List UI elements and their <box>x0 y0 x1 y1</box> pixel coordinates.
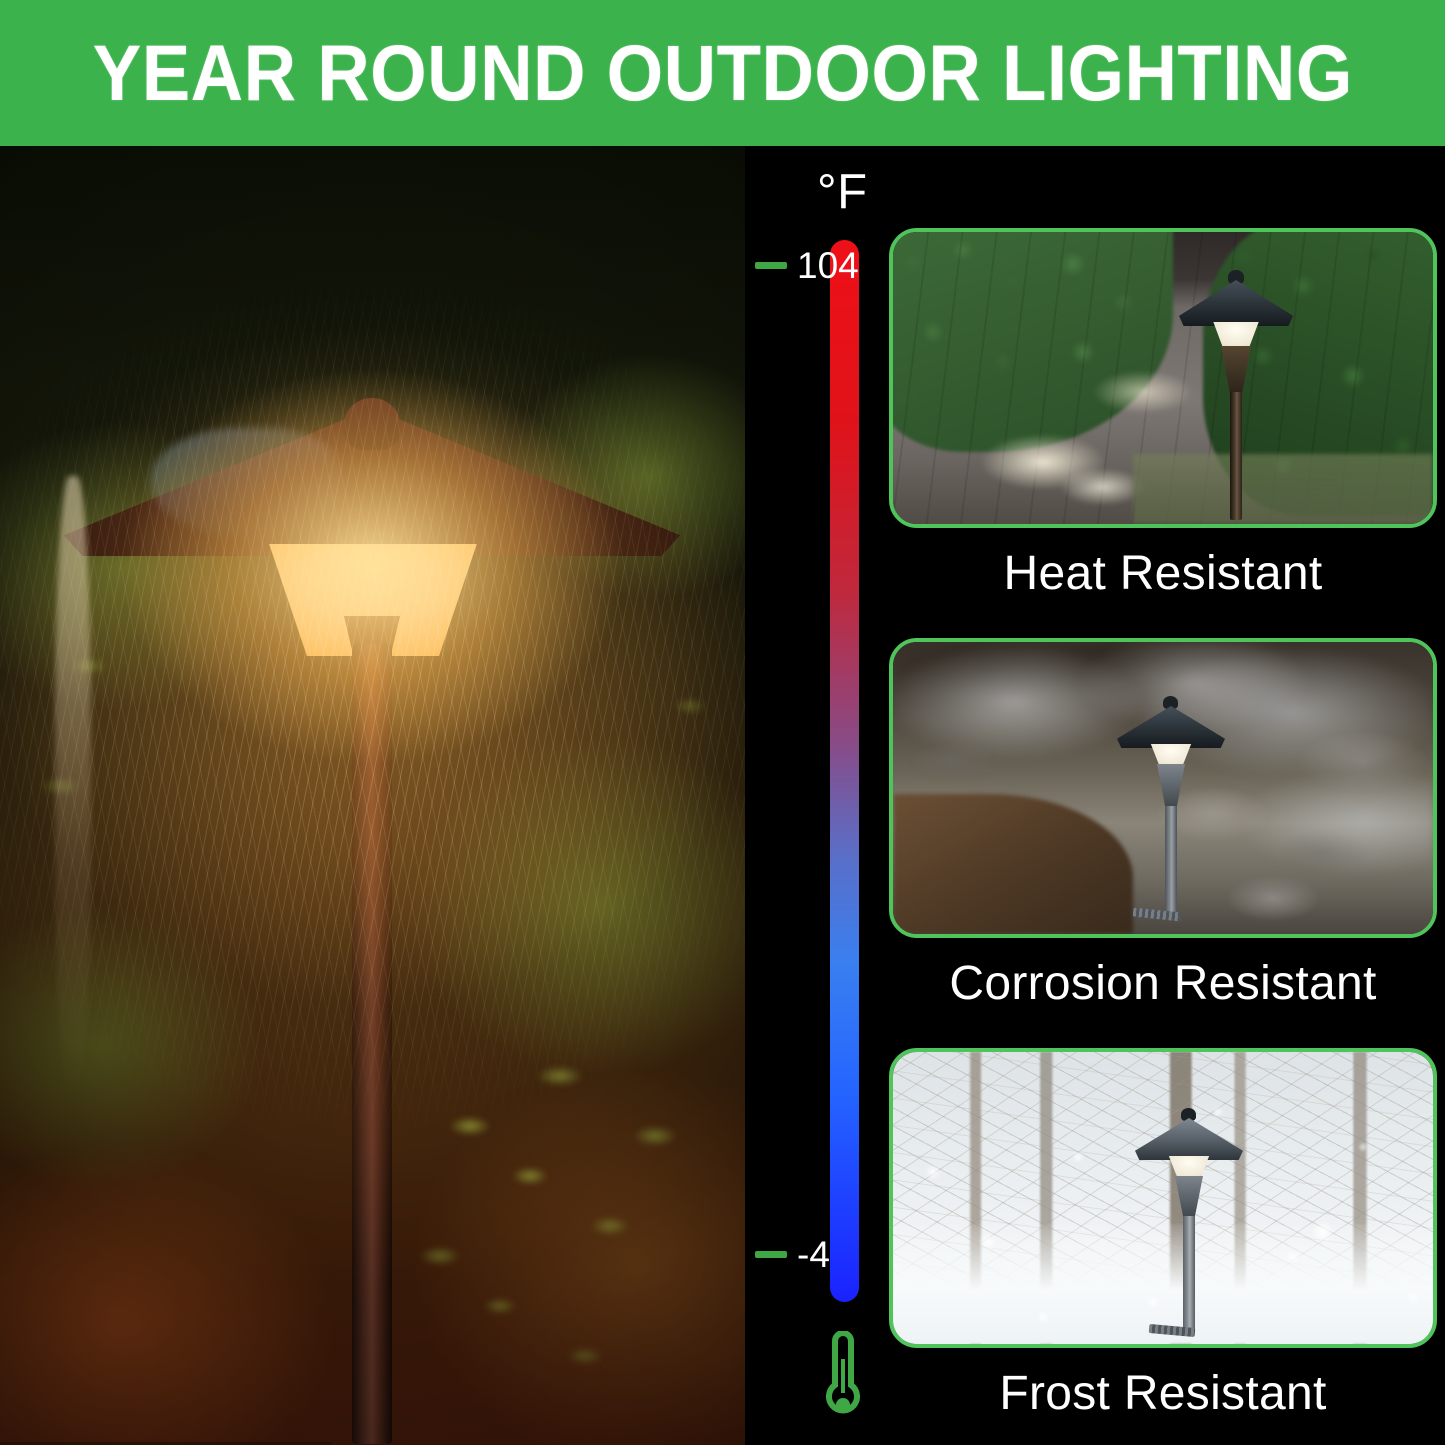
path-light-product <box>1171 270 1301 520</box>
hero-vignette <box>0 146 745 1445</box>
feature-photo-heat <box>889 228 1437 528</box>
tick-dash-icon <box>755 1251 787 1258</box>
feature-card-frost-resistant: Frost Resistant <box>881 1048 1445 1418</box>
temperature-tick-high: 104 <box>755 247 859 284</box>
feature-photo-frost <box>889 1048 1437 1348</box>
path-light-product <box>1111 696 1231 928</box>
temperature-high-value: 104 <box>797 247 859 284</box>
feature-caption-frost: Frost Resistant <box>999 1370 1326 1418</box>
right-panel: °F 104 -4 <box>745 146 1445 1445</box>
thermometer-icon <box>811 1331 875 1427</box>
product-feature-graphic: YEAR ROUND OUTDOOR LIGHTING <box>0 0 1445 1445</box>
temperature-gradient-bar <box>830 240 859 1302</box>
temperature-scale: °F 104 -4 <box>745 146 881 1445</box>
temperature-low-value: -4 <box>797 1236 830 1273</box>
temperature-unit-label: °F <box>817 168 868 217</box>
feature-card-heat-resistant: Heat Resistant <box>881 228 1445 598</box>
feature-caption-heat: Heat Resistant <box>1003 550 1322 598</box>
page-title: YEAR ROUND OUTDOOR LIGHTING <box>92 27 1352 119</box>
feature-photo-corrosion <box>889 638 1437 938</box>
hero-photo: IP65 Waterproof <box>0 146 745 1445</box>
tick-dash-icon <box>755 262 787 269</box>
falling-snowflakes <box>893 1052 1433 1344</box>
feature-card-corrosion-resistant: Corrosion Resistant <box>881 638 1445 1008</box>
header-banner: YEAR ROUND OUTDOOR LIGHTING <box>0 0 1445 146</box>
feature-card-list: Heat Resistant <box>881 146 1445 1445</box>
feature-caption-corrosion: Corrosion Resistant <box>949 960 1376 1008</box>
temperature-tick-low: -4 <box>755 1236 830 1273</box>
